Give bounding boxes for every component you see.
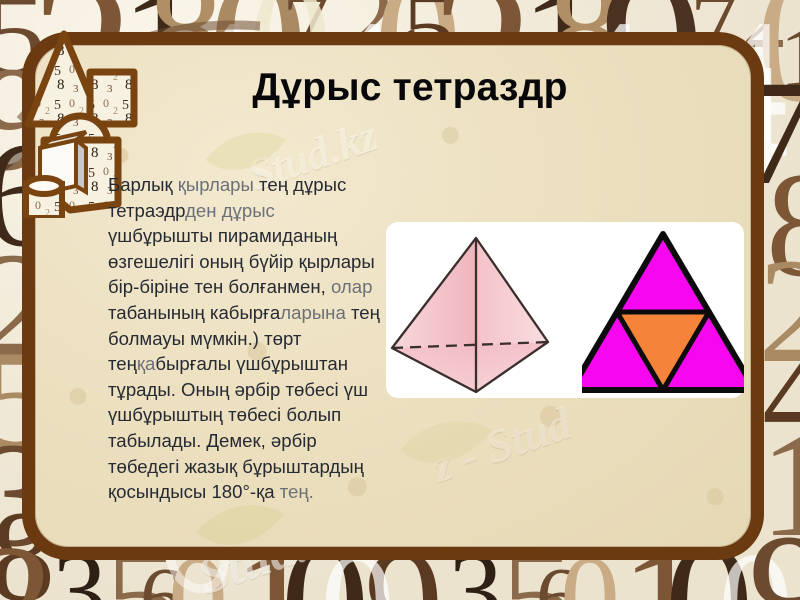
block-shape: [90, 72, 134, 124]
page-title: Дұрыс тетраздр: [130, 66, 690, 110]
body-seg-8: ларына: [280, 302, 351, 323]
body-seg-3: ден дұрыс: [185, 200, 275, 221]
body-seg-4: үшбұрыш: [108, 225, 191, 246]
body-seg-6: олар: [331, 276, 372, 297]
body-seg-10: қа: [137, 353, 155, 374]
triangle-top: [617, 234, 709, 312]
body-seg-11: бырғалы үшбұрыштан тұрады. Оның әрбір тө…: [108, 353, 368, 502]
slide-canvas: 5 2 1 8 0 7 2 0 1 5 2 1 8 9 7 2 0 1 4 4 …: [0, 0, 800, 600]
tetra-face-front: [392, 342, 548, 392]
body-paragraph: Барлық қырлары тең дұрыс тетраэдрден дұр…: [108, 172, 380, 505]
figure-card: [386, 222, 744, 398]
body-seg-12: тең.: [280, 481, 314, 502]
body-seg-7: табанының кабырға: [108, 302, 280, 323]
subdivided-triangle-figure: [582, 222, 744, 398]
body-seg-0: Барлық: [108, 174, 178, 195]
cylinder-top: [26, 178, 62, 194]
cube-side: [76, 140, 86, 192]
body-seg-1: қырлары: [178, 174, 259, 195]
pink-tetrahedron-figure: [386, 222, 572, 398]
